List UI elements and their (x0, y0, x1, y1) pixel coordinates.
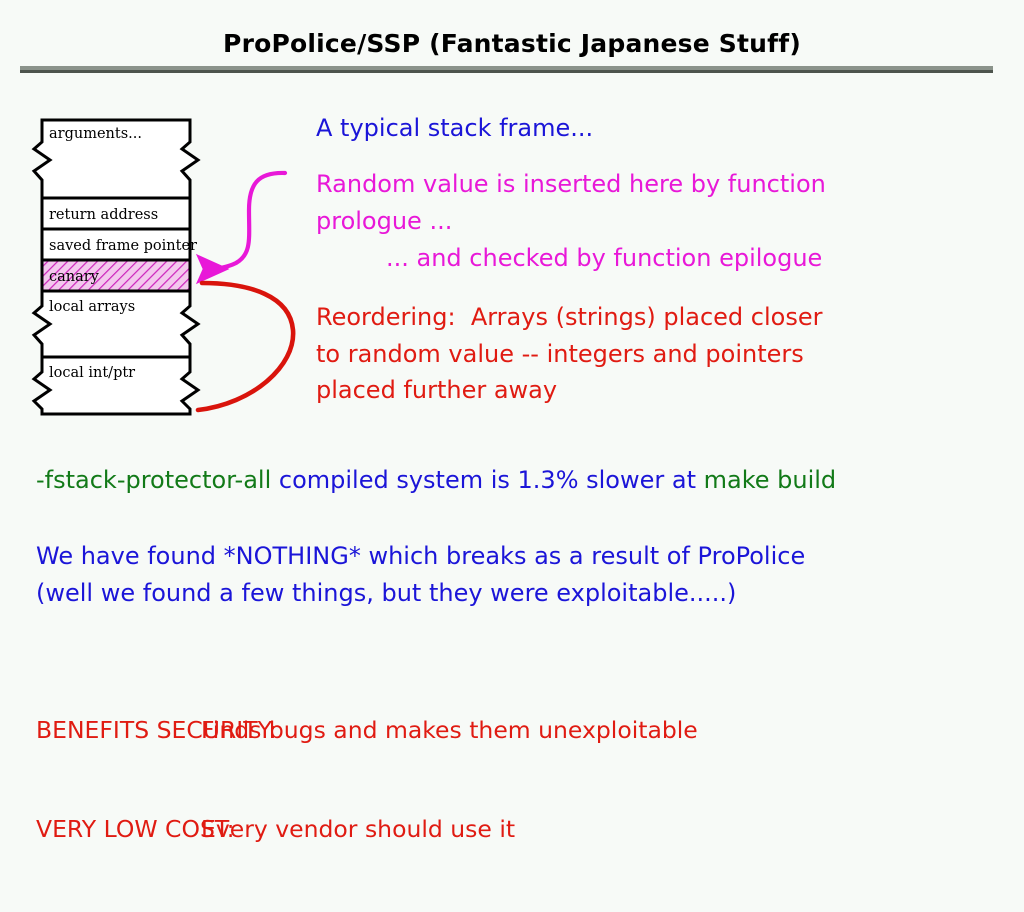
build-target-text: make build (704, 466, 837, 494)
findings-line2: (well we found a few things, but they we… (36, 579, 736, 607)
slide-canvas: ProPolice/SSP (Fantastic Japanese Stuff)… (0, 0, 1024, 768)
callout-reordering-line2: to random value -- integers and pointers (316, 340, 804, 368)
performance-middle-text: compiled system is 1.3% slower at (271, 466, 703, 494)
callout-reordering-line1: Reordering: Arrays (strings) placed clos… (316, 303, 822, 331)
benefit-value: Every vendor should use it (201, 815, 515, 843)
typical-stack-frame-diagram: arguments... return address saved frame … (30, 110, 240, 420)
stack-cell-local-arrays: local arrays (34, 291, 198, 357)
benefit-value: Finds bugs and makes them unexploitable (201, 716, 698, 744)
benefit-label: BENEFITS SECURITY: (36, 714, 201, 747)
stack-cell-label: canary (49, 269, 100, 285)
benefit-label: VERY LOW COST: (36, 813, 201, 846)
stack-cell-saved-frame-pointer: saved frame pointer (42, 229, 197, 260)
title-divider (20, 66, 993, 73)
stack-cell-label: local int/ptr (49, 365, 135, 381)
page-title: ProPolice/SSP (Fantastic Japanese Stuff) (0, 29, 1024, 58)
callout-typical-stack-frame: A typical stack frame... (316, 110, 593, 146)
stack-cell-label: arguments... (49, 126, 142, 142)
stack-cell-label: return address (49, 207, 158, 223)
performance-statement: -fstack-protector-all compiled system is… (36, 462, 836, 498)
benefits-block: BENEFITS SECURITY:Finds bugs and makes t… (36, 648, 698, 912)
stack-cell-label: saved frame pointer (49, 238, 197, 254)
stack-cell-return-address: return address (42, 198, 190, 229)
findings-statement: We have found *NOTHING* which breaks as … (36, 538, 805, 612)
stack-cell-local-int-ptr: local int/ptr (34, 357, 198, 414)
stack-cell-label: local arrays (49, 299, 135, 315)
benefit-row: VERY LOW COST:Every vendor should use it (36, 813, 698, 846)
callout-reordering: Reordering: Arrays (strings) placed clos… (316, 299, 822, 409)
benefit-row: BENEFITS SECURITY:Finds bugs and makes t… (36, 714, 698, 747)
callout-random-value-line1: Random value is inserted here by functio… (316, 170, 826, 198)
callout-random-value-line2: prologue ... (316, 207, 452, 235)
callout-checked-epilogue: ... and checked by function epilogue (386, 240, 822, 276)
findings-line1: We have found *NOTHING* which breaks as … (36, 542, 805, 570)
compiler-flag-text: -fstack-protector-all (36, 466, 271, 494)
callout-random-value: Random value is inserted here by functio… (316, 166, 826, 240)
stack-cell-arguments: arguments... (34, 120, 198, 198)
callout-reordering-line3: placed further away (316, 376, 557, 404)
stack-cell-canary: canary (42, 260, 190, 291)
